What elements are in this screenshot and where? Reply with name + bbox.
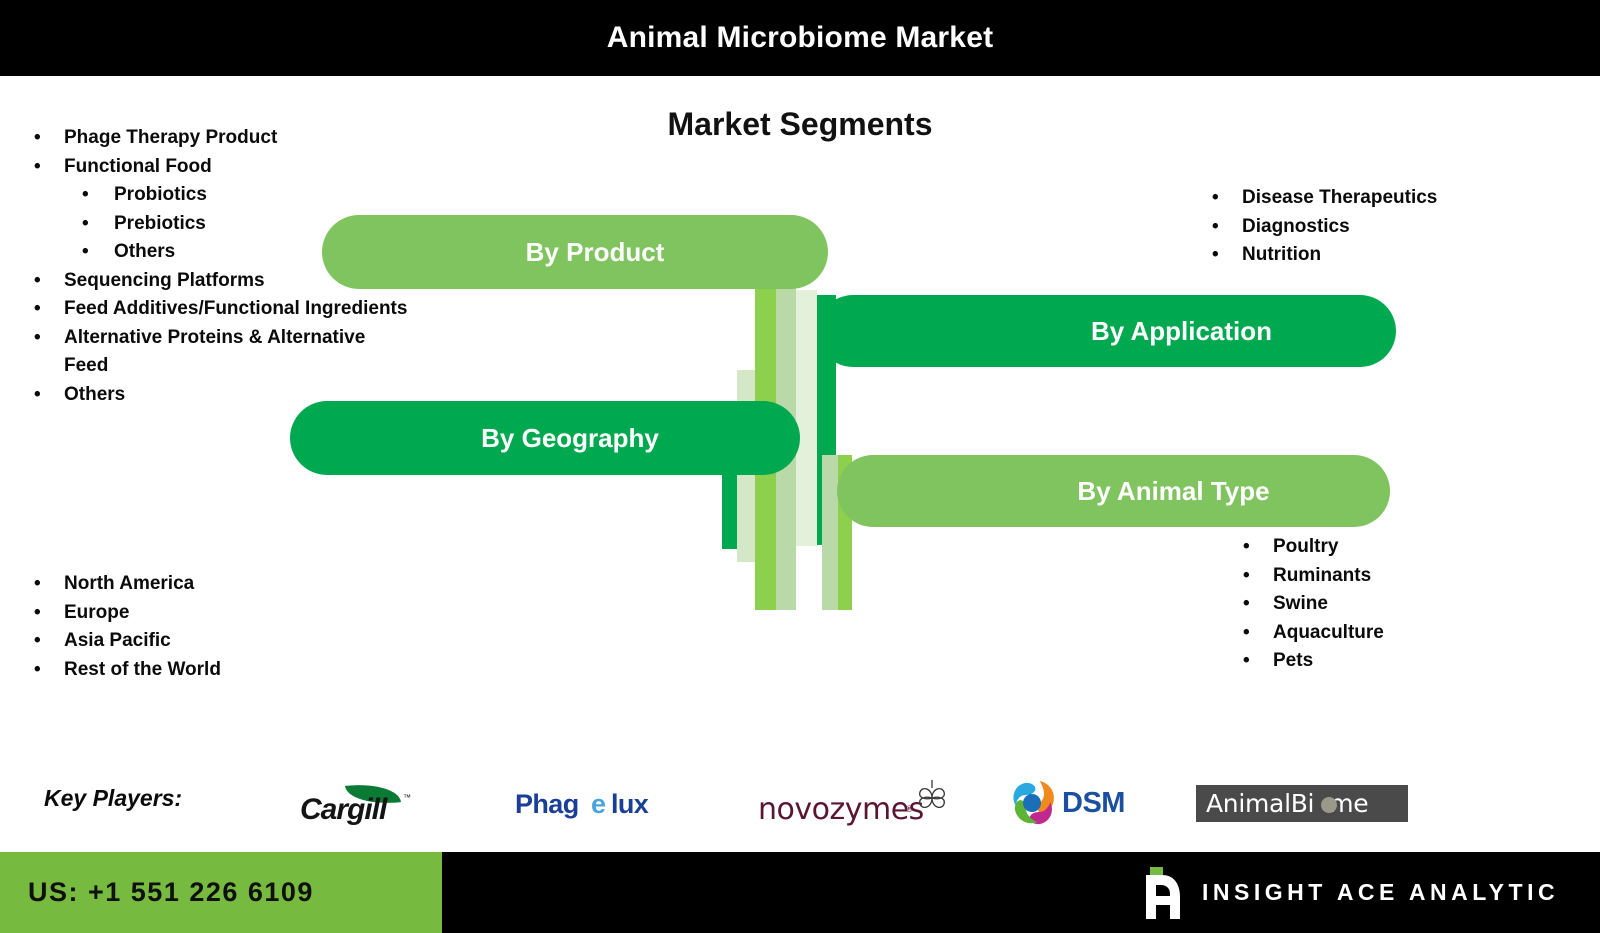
segment-list-by-product: •Phage Therapy Product •Functional Food … <box>34 124 414 409</box>
segment-bar-label: By Geography <box>481 423 659 454</box>
logo-cargill: Cargill ™ <box>300 777 412 829</box>
key-players-label: Key Players: <box>44 785 182 812</box>
bullet-glyph: • <box>34 124 64 153</box>
segment-list-by-animal-type: •Poultry •Ruminants •Swine •Aquaculture … <box>1243 533 1573 676</box>
logo-text-head: AnimalBi <box>1206 789 1314 818</box>
bullet-glyph: • <box>34 295 64 324</box>
logo-text: Cargill <box>300 795 412 825</box>
bullet-glyph: • <box>1212 184 1242 213</box>
segment-bar-label: By Animal Type <box>1077 476 1269 507</box>
list-item: •Diagnostics <box>1212 213 1552 242</box>
stripe-app-palest <box>796 290 817 546</box>
segment-bar-by-geography[interactable]: By Geography <box>290 401 800 475</box>
segment-list-by-application: •Disease Therapeutics •Diagnostics •Nutr… <box>1212 184 1552 270</box>
logo-text-accent: e <box>591 789 605 819</box>
segment-bar-by-animal-type[interactable]: By Animal Type <box>837 455 1390 527</box>
list-item: •Sequencing Platforms <box>34 267 414 296</box>
bullet-glyph: • <box>34 153 64 182</box>
list-item: •Feed Additives/Functional Ingredients <box>34 295 414 324</box>
segment-bar-label: By Application <box>1091 316 1272 347</box>
bullet-glyph: • <box>34 570 64 599</box>
brand-name: INSIGHT ACE ANALYTIC <box>1202 879 1559 906</box>
bullet-glyph: • <box>34 267 64 296</box>
list-item: •Others <box>34 381 414 410</box>
insightace-logo-icon <box>1140 867 1182 919</box>
list-item: •Swine <box>1243 590 1573 619</box>
bullet-glyph: • <box>1212 213 1242 242</box>
list-item: •Probiotics <box>34 181 414 210</box>
list-item: •Disease Therapeutics <box>1212 184 1552 213</box>
list-item: •North America <box>34 570 364 599</box>
list-item: •Others <box>34 238 414 267</box>
infographic-page: Animal Microbiome Market Market Segments… <box>0 0 1600 933</box>
footer-phone-text: US: +1 551 226 6109 <box>28 852 314 933</box>
novozymes-clover-icon <box>910 778 954 818</box>
segment-bar-by-application[interactable]: By Application <box>817 295 1396 367</box>
logo-dsm: DSM <box>1010 776 1128 828</box>
logo-phagelux: Phag e lux <box>515 789 647 819</box>
dsm-swirl-icon <box>1010 778 1060 826</box>
bullet-glyph: • <box>1243 619 1273 648</box>
logo-text-tail: lux <box>611 789 648 819</box>
logo-novozymes: novozymes ® <box>758 780 954 828</box>
segment-list-by-geography: •North America •Europe •Asia Pacific •Re… <box>34 570 364 684</box>
list-item: •Rest of the World <box>34 656 364 685</box>
animalbiome-microbe-icon <box>1321 797 1337 813</box>
bullet-glyph: • <box>34 627 64 656</box>
bullet-glyph: • <box>34 599 64 628</box>
list-item: •Poultry <box>1243 533 1573 562</box>
brand-lockup: INSIGHT ACE ANALYTIC <box>1140 852 1559 933</box>
logo-animalbiome: AnimalBiome <box>1196 785 1408 822</box>
list-item: •Prebiotics <box>34 210 414 239</box>
logo-text: AnimalBiome <box>1206 788 1368 819</box>
logo-text: novozymes <box>758 794 924 826</box>
list-item: •Alternative Proteins & Alternative Feed <box>34 324 414 381</box>
bullet-glyph: • <box>82 210 114 239</box>
list-item: •Pets <box>1243 647 1573 676</box>
bullet-glyph: • <box>1243 647 1273 676</box>
bullet-glyph: • <box>82 181 114 210</box>
list-item: •Nutrition <box>1212 241 1552 270</box>
list-item: •Functional Food <box>34 153 414 182</box>
bullet-glyph: • <box>34 656 64 685</box>
list-item: •Europe <box>34 599 364 628</box>
list-item: •Ruminants <box>1243 562 1573 591</box>
bullet-glyph: • <box>1243 590 1273 619</box>
trademark-icon: ™ <box>403 793 411 802</box>
logo-text: Phag <box>515 789 579 819</box>
bullet-glyph: • <box>1243 533 1273 562</box>
list-item: •Aquaculture <box>1243 619 1573 648</box>
bullet-glyph: • <box>34 381 64 410</box>
logo-letter-a <box>1140 875 1182 919</box>
list-item: •Phage Therapy Product <box>34 124 414 153</box>
bullet-glyph: • <box>34 324 64 353</box>
bullet-glyph: • <box>1212 241 1242 270</box>
list-item: •Asia Pacific <box>34 627 364 656</box>
bullet-glyph: • <box>82 238 114 267</box>
segment-bar-label: By Product <box>526 237 665 268</box>
bullet-glyph: • <box>1243 562 1273 591</box>
logo-text: DSM <box>1062 788 1125 818</box>
